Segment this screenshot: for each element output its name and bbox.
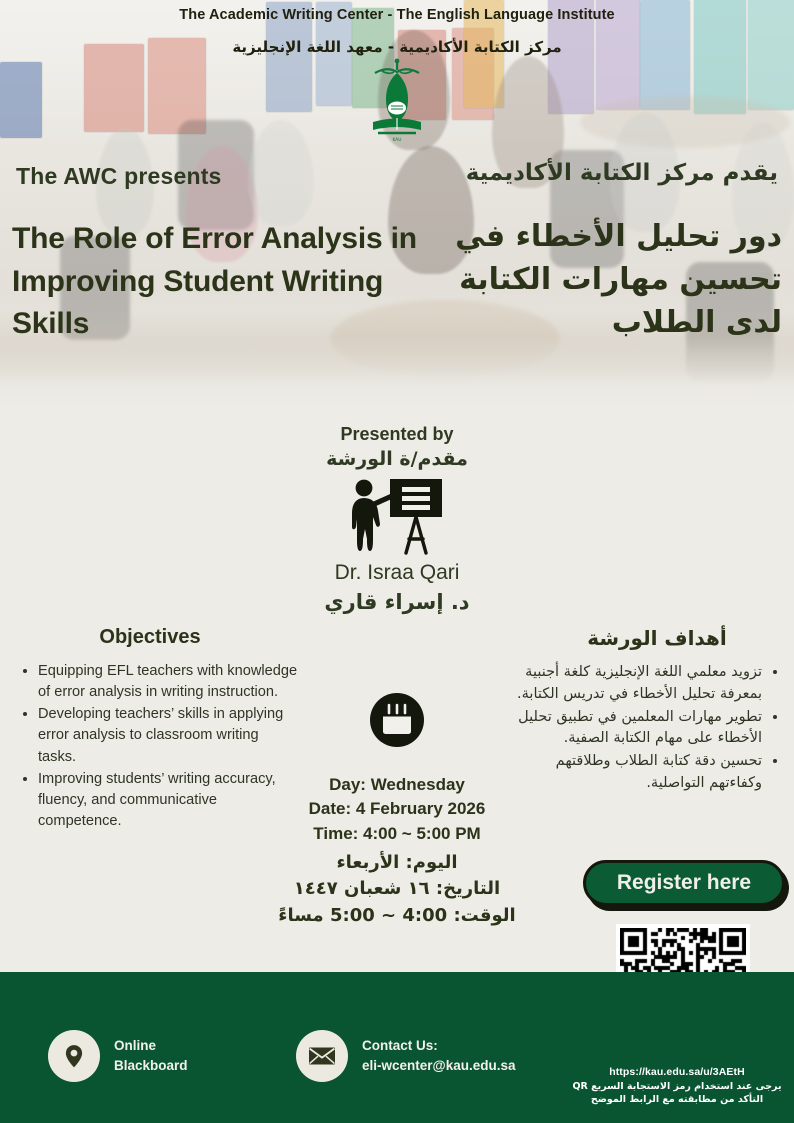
objectives-heading-arabic: أهداف الورشة (520, 626, 794, 650)
envelope-glyph (308, 1046, 336, 1066)
objective-item: Equipping EFL teachers with knowledge of… (38, 661, 300, 703)
king-abdulaziz-university-logo: KAU (361, 58, 433, 144)
location-info: Online Blackboard (48, 1030, 188, 1082)
workshop-title-arabic: دور تحليل الأخطاء في تحسين مهارات الكتاب… (432, 215, 782, 345)
schedule-english: Day: Wednesday Date: 4 February 2026 Tim… (0, 773, 794, 846)
register-here-button[interactable]: Register here (583, 860, 785, 906)
presenter-name-english: Dr. Israa Qari (0, 561, 794, 585)
header-title-english: The Academic Writing Center - The Englis… (0, 7, 794, 23)
qr-url-text: https://kau.edu.sa/u/3AEtH (560, 1066, 794, 1078)
qr-note-arabic: يرجى عند استخدام رمز الاستجابة السريع QR… (560, 1081, 794, 1106)
presents-label-arabic: يقدم مركز الكتابة الأكاديمية (466, 160, 778, 186)
schedule-date-english: Date: 4 February 2026 (0, 797, 794, 821)
presents-label-english: The AWC presents (16, 163, 222, 190)
contact-info: Contact Us: eli-wcenter@kau.edu.sa (296, 1030, 515, 1082)
schedule-day-english: Day: Wednesday (0, 773, 794, 797)
objective-item: تطوير مهارات المعلمين في تطبيق تحليل الأ… (514, 707, 762, 751)
contact-email[interactable]: eli-wcenter@kau.edu.sa (362, 1056, 515, 1076)
presented-by-label-english: Presented by (0, 424, 794, 445)
objective-item: تزويد معلمي اللغة الإنجليزية كلغة أجنبية… (514, 662, 762, 706)
envelope-icon (296, 1030, 348, 1082)
map-pin-glyph (61, 1043, 87, 1069)
objective-item: Developing teachers’ skills in applying … (38, 704, 300, 767)
presenter-at-whiteboard-icon (348, 477, 446, 555)
location-line-1: Online (114, 1036, 188, 1056)
location-line-2: Blackboard (114, 1056, 188, 1076)
presented-by-label-arabic: مقدم/ة الورشة (0, 448, 794, 470)
contact-line-1: Contact Us: (362, 1036, 515, 1056)
schedule-time-english: Time: 4:00 ~ 5:00 PM (0, 822, 794, 846)
workshop-poster: The Academic Writing Center - The Englis… (0, 0, 794, 1123)
wall-poster (0, 62, 42, 138)
contact-text: Contact Us: eli-wcenter@kau.edu.sa (362, 1036, 515, 1077)
svg-text:KAU: KAU (392, 137, 401, 143)
map-pin-icon (48, 1030, 100, 1082)
location-text: Online Blackboard (114, 1036, 188, 1077)
calendar-icon (369, 692, 425, 748)
hero-bottom-fade (0, 338, 794, 408)
presenter-name-arabic: د. إسراء قاري (0, 590, 794, 614)
objectives-heading-english: Objectives (0, 626, 300, 649)
header-title-arabic: مركز الكتابة الأكاديمية - معهد اللغة الإ… (0, 38, 794, 56)
workshop-title-english: The Role of Error Analysis in Improving … (12, 218, 442, 346)
wall-poster (84, 44, 144, 132)
